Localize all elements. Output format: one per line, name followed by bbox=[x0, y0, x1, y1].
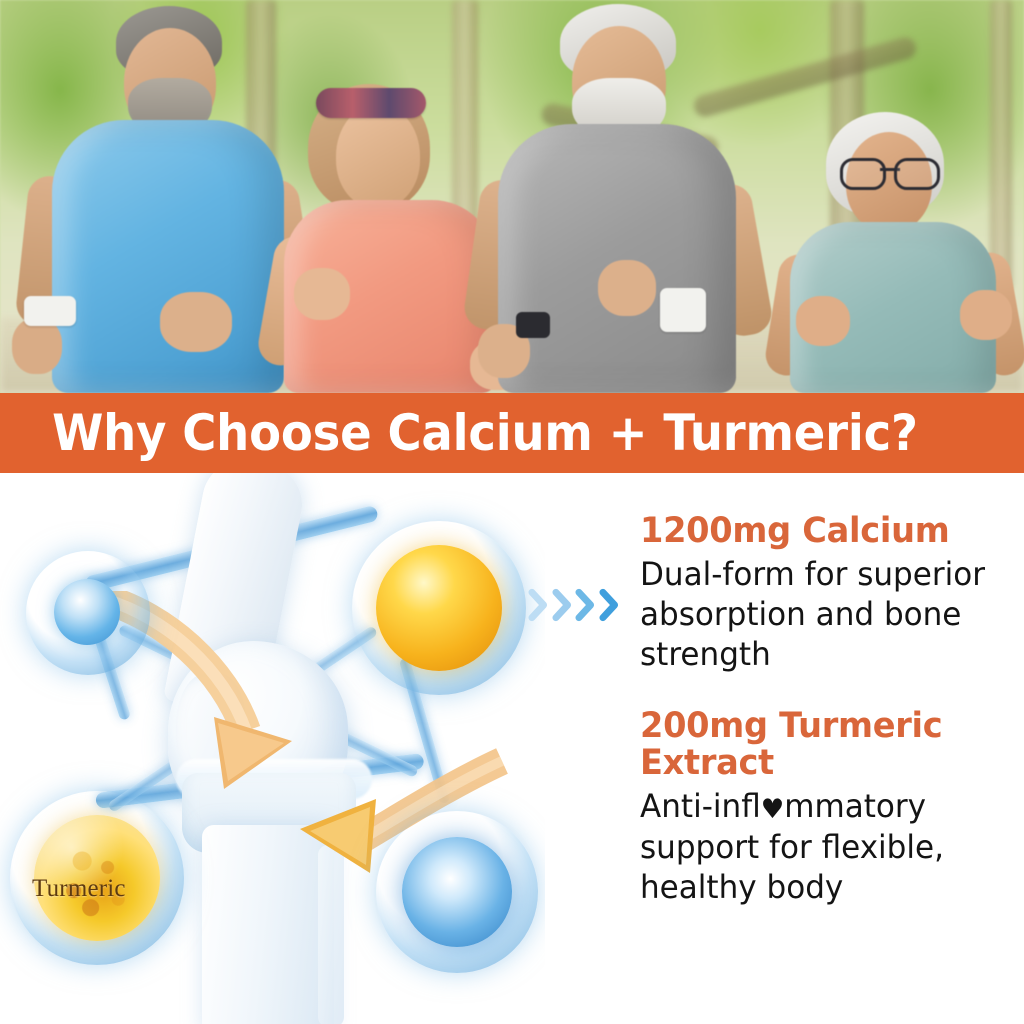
face bbox=[336, 104, 420, 208]
benefit-body-text: Dual-form for superior absorption and bo… bbox=[640, 555, 985, 673]
benefit-body-text-pre: Anti-infl bbox=[640, 787, 761, 825]
headline-banner: Why Choose Calcium + Turmeric? bbox=[0, 393, 1024, 473]
glasses-icon bbox=[840, 158, 940, 184]
hand-left bbox=[598, 260, 656, 316]
tshirt bbox=[498, 124, 736, 393]
benefit-heading: 1200mg Calcium bbox=[640, 513, 997, 550]
hand-left bbox=[12, 318, 62, 374]
orb-bottom-left-turmeric: Turmeric bbox=[10, 791, 184, 965]
benefit-body: Dual-form for superior absorption and bo… bbox=[640, 554, 1001, 674]
heart-icon: ♥ bbox=[761, 794, 784, 825]
orb-top-left-blue bbox=[26, 551, 150, 675]
chevron-arrows bbox=[528, 583, 620, 627]
benefit-body: Anti-infl♥mmatory support for flexible, … bbox=[640, 786, 1001, 907]
tshirt bbox=[52, 120, 284, 393]
turmeric-label: Turmeric bbox=[32, 875, 126, 903]
water-droplet bbox=[54, 579, 120, 645]
benefits-section: Turmeric 1200mg Calc bbox=[0, 473, 1024, 1024]
banner-title: Why Choose Calcium + Turmeric? bbox=[0, 404, 918, 462]
chevron-right-icon-4 bbox=[599, 588, 621, 622]
orb-bottom-right-blue bbox=[376, 811, 538, 973]
water-droplet bbox=[402, 837, 512, 947]
benefit-turmeric: 200mg Turmeric Extract Anti-infl♥mmatory… bbox=[640, 708, 1012, 907]
knee-joint-illustration: Turmeric bbox=[0, 473, 545, 1024]
wristband bbox=[660, 288, 706, 332]
hand-left bbox=[294, 268, 350, 320]
product-infographic: Why Choose Calcium + Turmeric? bbox=[0, 0, 1024, 1024]
benefits-text-column: 1200mg Calcium Dual-form for superior ab… bbox=[640, 513, 1012, 941]
hero-photo bbox=[0, 0, 1024, 393]
chevron-right-icon-2 bbox=[552, 588, 574, 622]
tree-trunk bbox=[990, 0, 1012, 290]
chevron-right-icon-1 bbox=[528, 588, 550, 622]
hand-right bbox=[160, 292, 232, 352]
hand-left bbox=[796, 296, 850, 346]
benefit-heading: 200mg Turmeric Extract bbox=[640, 708, 997, 782]
hand-right bbox=[960, 290, 1012, 340]
wristband bbox=[24, 296, 76, 326]
benefit-calcium: 1200mg Calcium Dual-form for superior ab… bbox=[640, 513, 1012, 674]
wristwatch bbox=[516, 312, 550, 338]
orb-top-right-gold bbox=[352, 521, 526, 695]
oil-droplet bbox=[376, 545, 502, 671]
chevron-right-icon-3 bbox=[575, 588, 597, 622]
floral-headband bbox=[316, 88, 426, 118]
